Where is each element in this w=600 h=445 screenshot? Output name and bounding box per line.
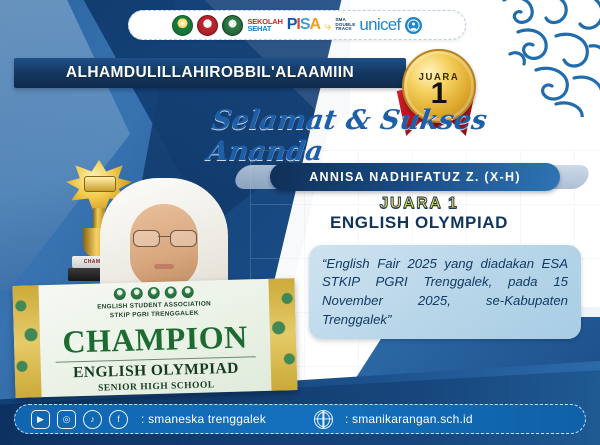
banner-ornament-left: [12, 285, 41, 398]
event-description-text: “English Fair 2025 yang diadakan ESA STK…: [322, 255, 568, 330]
glasses-bridge: [158, 236, 170, 237]
event-description-box: “English Fair 2025 yang diadakan ESA STK…: [309, 245, 581, 339]
sekolah-sehat-line2: SEHAT: [247, 25, 282, 33]
banner-logo-1: [114, 288, 126, 300]
medal-rank-number: 1: [431, 82, 448, 106]
award-rank-text: JUARA 1: [250, 196, 588, 213]
contact-footer-bar: ▶ ◎ ♪ f : smaneska trenggalek : smanikar…: [14, 404, 586, 434]
glasses-icon: [132, 230, 196, 246]
sekolah-sehat-logo: SEKOLAH SEHAT: [247, 18, 282, 33]
pisa-logo: PISA: [287, 17, 320, 33]
school-emblem-icon: [222, 15, 243, 36]
tut-wuri-handayani-logo-icon: [197, 15, 218, 36]
headline-banner: ALHAMDULILLAHIROBBIL'ALAAMIIN: [14, 58, 406, 88]
headline-text: ALHAMDULILLAHIROBBIL'ALAAMIIN: [66, 64, 354, 82]
achievement-poster: SEKOLAH SEHAT PISA ⤷ SMA DOUBLE TRACK un…: [0, 0, 600, 445]
banner-logo-5: [182, 286, 194, 298]
social-icon-group: ▶ ◎ ♪ f: [31, 410, 128, 429]
banner-logo-4: [165, 286, 177, 298]
youtube-icon[interactable]: ▶: [31, 410, 50, 429]
social-handle-text: : smaneska trenggalek: [141, 412, 266, 426]
pisa-swoosh-icon: ⤷: [324, 19, 331, 32]
greeting-line: Selamat & Sukses Ananda: [210, 118, 588, 154]
facebook-icon[interactable]: f: [109, 410, 128, 429]
student-name-pill: ANNISA NADHIFATUZ Z. (X-H): [270, 163, 560, 191]
student-name-block: ANNISA NADHIFATUZ Z. (X-H): [236, 163, 588, 191]
sma-double-track-logo: SMA DOUBLE TRACK: [335, 18, 355, 32]
glasses-lens-right: [170, 230, 197, 247]
instagram-icon[interactable]: ◎: [57, 410, 76, 429]
banner-logo-3: [148, 287, 160, 299]
banner-title: CHAMPION: [14, 319, 297, 359]
east-java-province-emblem-icon: [172, 15, 193, 36]
institution-logo-bar: SEKOLAH SEHAT PISA ⤷ SMA DOUBLE TRACK un…: [128, 10, 466, 40]
lips: [154, 264, 174, 269]
glasses-lens-left: [133, 230, 160, 247]
banner-ornament-right: [268, 278, 297, 391]
banner-association: ENGLISH STUDENT ASSOCIATION STKIP PGRI T…: [13, 298, 295, 323]
unicef-globe-icon: [405, 17, 422, 34]
banner-logo-2: [131, 287, 143, 299]
champion-banner: ENGLISH STUDENT ASSOCIATION STKIP PGRI T…: [12, 278, 297, 398]
award-block: JUARA 1 ENGLISH OLYMPIAD: [250, 196, 588, 232]
student-name-text: ANNISA NADHIFATUZ Z. (X-H): [309, 170, 521, 184]
unicef-wordmark: unicef: [359, 15, 400, 35]
greeting-text: Selamat & Sukses Ananda: [206, 105, 593, 167]
smk-line3: TRACK: [335, 27, 355, 32]
globe-icon: [314, 410, 333, 429]
website-text: : smanikarangan.sch.id: [345, 412, 473, 426]
award-title-text: ENGLISH OLYMPIAD: [250, 213, 588, 233]
tiktok-icon[interactable]: ♪: [83, 410, 102, 429]
medal-word: JUARA: [419, 72, 460, 84]
website-group: : smanikarangan.sch.id: [314, 410, 473, 429]
